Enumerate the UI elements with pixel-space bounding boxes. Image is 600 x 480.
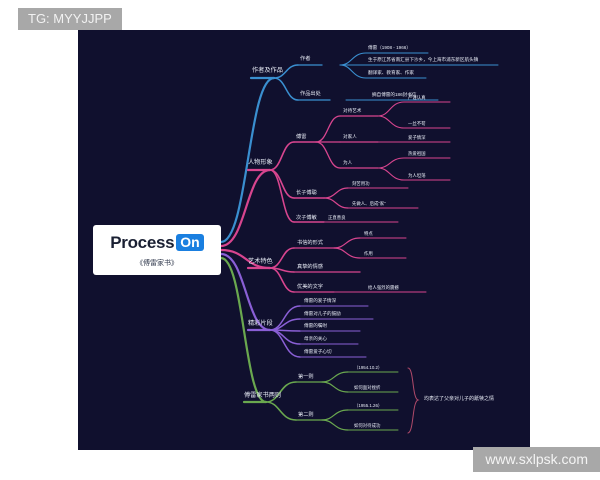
branch-label-authors-works[interactable]: 作者及作品	[252, 68, 283, 74]
node-eldest-son[interactable]: 长子傅聪	[296, 191, 317, 196]
node-letter-one-theme[interactable]: 如何面对挫折	[354, 386, 380, 390]
node-letters-summary-note[interactable]: 均表达了父亲对儿子的舐犊之情	[424, 397, 494, 402]
node-son-person-first[interactable]: 先做人、后成“家”	[352, 202, 386, 206]
processon-logo: Process On	[110, 233, 204, 253]
node-art-rigorous[interactable]: 严谨认真	[408, 96, 426, 100]
node-author-roles[interactable]: 翻译家、教育家、作家	[368, 71, 414, 76]
node-author[interactable]: 作者	[300, 57, 310, 62]
node-art-meticulous[interactable]: 一丝不苟	[408, 122, 426, 126]
node-second-son-trait[interactable]: 正直善良	[328, 216, 346, 220]
site-watermark: www.sxlpsk.com	[473, 447, 600, 472]
node-highlight-3[interactable]: 傅雷的嘱咐	[304, 324, 327, 329]
node-upright[interactable]: 为人坦荡	[408, 174, 426, 178]
node-letter-two[interactable]: 第二则	[298, 413, 314, 418]
central-topic-node[interactable]: Process On 《傅雷家书》	[93, 225, 221, 275]
node-toward-family[interactable]: 对家人	[343, 135, 357, 140]
tg-tag-overlay: TG: MYYJJPP	[18, 8, 122, 30]
node-words-impact[interactable]: 给人强烈的震撼	[368, 286, 399, 290]
node-work-source[interactable]: 作品出处	[300, 92, 321, 97]
node-fulei[interactable]: 傅雷	[296, 135, 306, 140]
branch-label-highlights[interactable]: 精彩片段	[248, 321, 273, 327]
node-second-son[interactable]: 次子傅敏	[296, 216, 317, 221]
node-patriotic[interactable]: 热爱祖国	[408, 152, 426, 156]
node-author-life[interactable]: 傅雷（1908 - 1966）	[368, 46, 411, 51]
node-highlight-4[interactable]: 母亲的关心	[304, 337, 327, 342]
node-toward-art[interactable]: 对待艺术	[343, 109, 361, 114]
logo-text: Process	[110, 233, 174, 253]
node-author-birthplace[interactable]: 生于原江苏省南汇县下沙乡，今上海市浦东新区航头镇	[368, 58, 478, 63]
node-highlight-5[interactable]: 傅雷爱子心切	[304, 350, 332, 355]
node-son-diligent[interactable]: 刻苦用功	[352, 182, 370, 186]
branch-label-artistic-features[interactable]: 艺术特色	[248, 259, 273, 265]
node-family-love[interactable]: 爱子情深	[408, 136, 426, 140]
node-form-function[interactable]: 作用	[364, 252, 373, 256]
node-letter-form[interactable]: 书信的形式	[297, 241, 323, 246]
node-letter-two-date[interactable]: （1955.1.26）	[354, 404, 382, 408]
node-letter-two-theme[interactable]: 如何对待成功	[354, 424, 380, 428]
node-form-traits[interactable]: 特点	[364, 232, 373, 236]
logo-badge: On	[176, 234, 203, 251]
book-title-subtitle: 《傅雷家书》	[136, 258, 178, 268]
mindmap-canvas[interactable]: Process On 《傅雷家书》 作者及作品 作者 傅雷（1908 - 196…	[78, 30, 530, 450]
node-beautiful-words[interactable]: 优美的文字	[297, 285, 323, 290]
node-sincere-emotion[interactable]: 真挚的情感	[297, 265, 323, 270]
node-highlight-1[interactable]: 傅雷的爱子情深	[304, 299, 336, 304]
node-letter-one[interactable]: 第一则	[298, 375, 314, 380]
node-highlight-2[interactable]: 傅雷对儿子的鼓励	[304, 312, 341, 317]
branch-label-characters[interactable]: 人物形象	[248, 160, 273, 166]
node-letter-one-date[interactable]: （1954.10.2）	[354, 366, 382, 370]
branch-label-two-letters[interactable]: 傅雷家书两则	[244, 393, 281, 399]
node-personality[interactable]: 为人	[343, 161, 352, 166]
